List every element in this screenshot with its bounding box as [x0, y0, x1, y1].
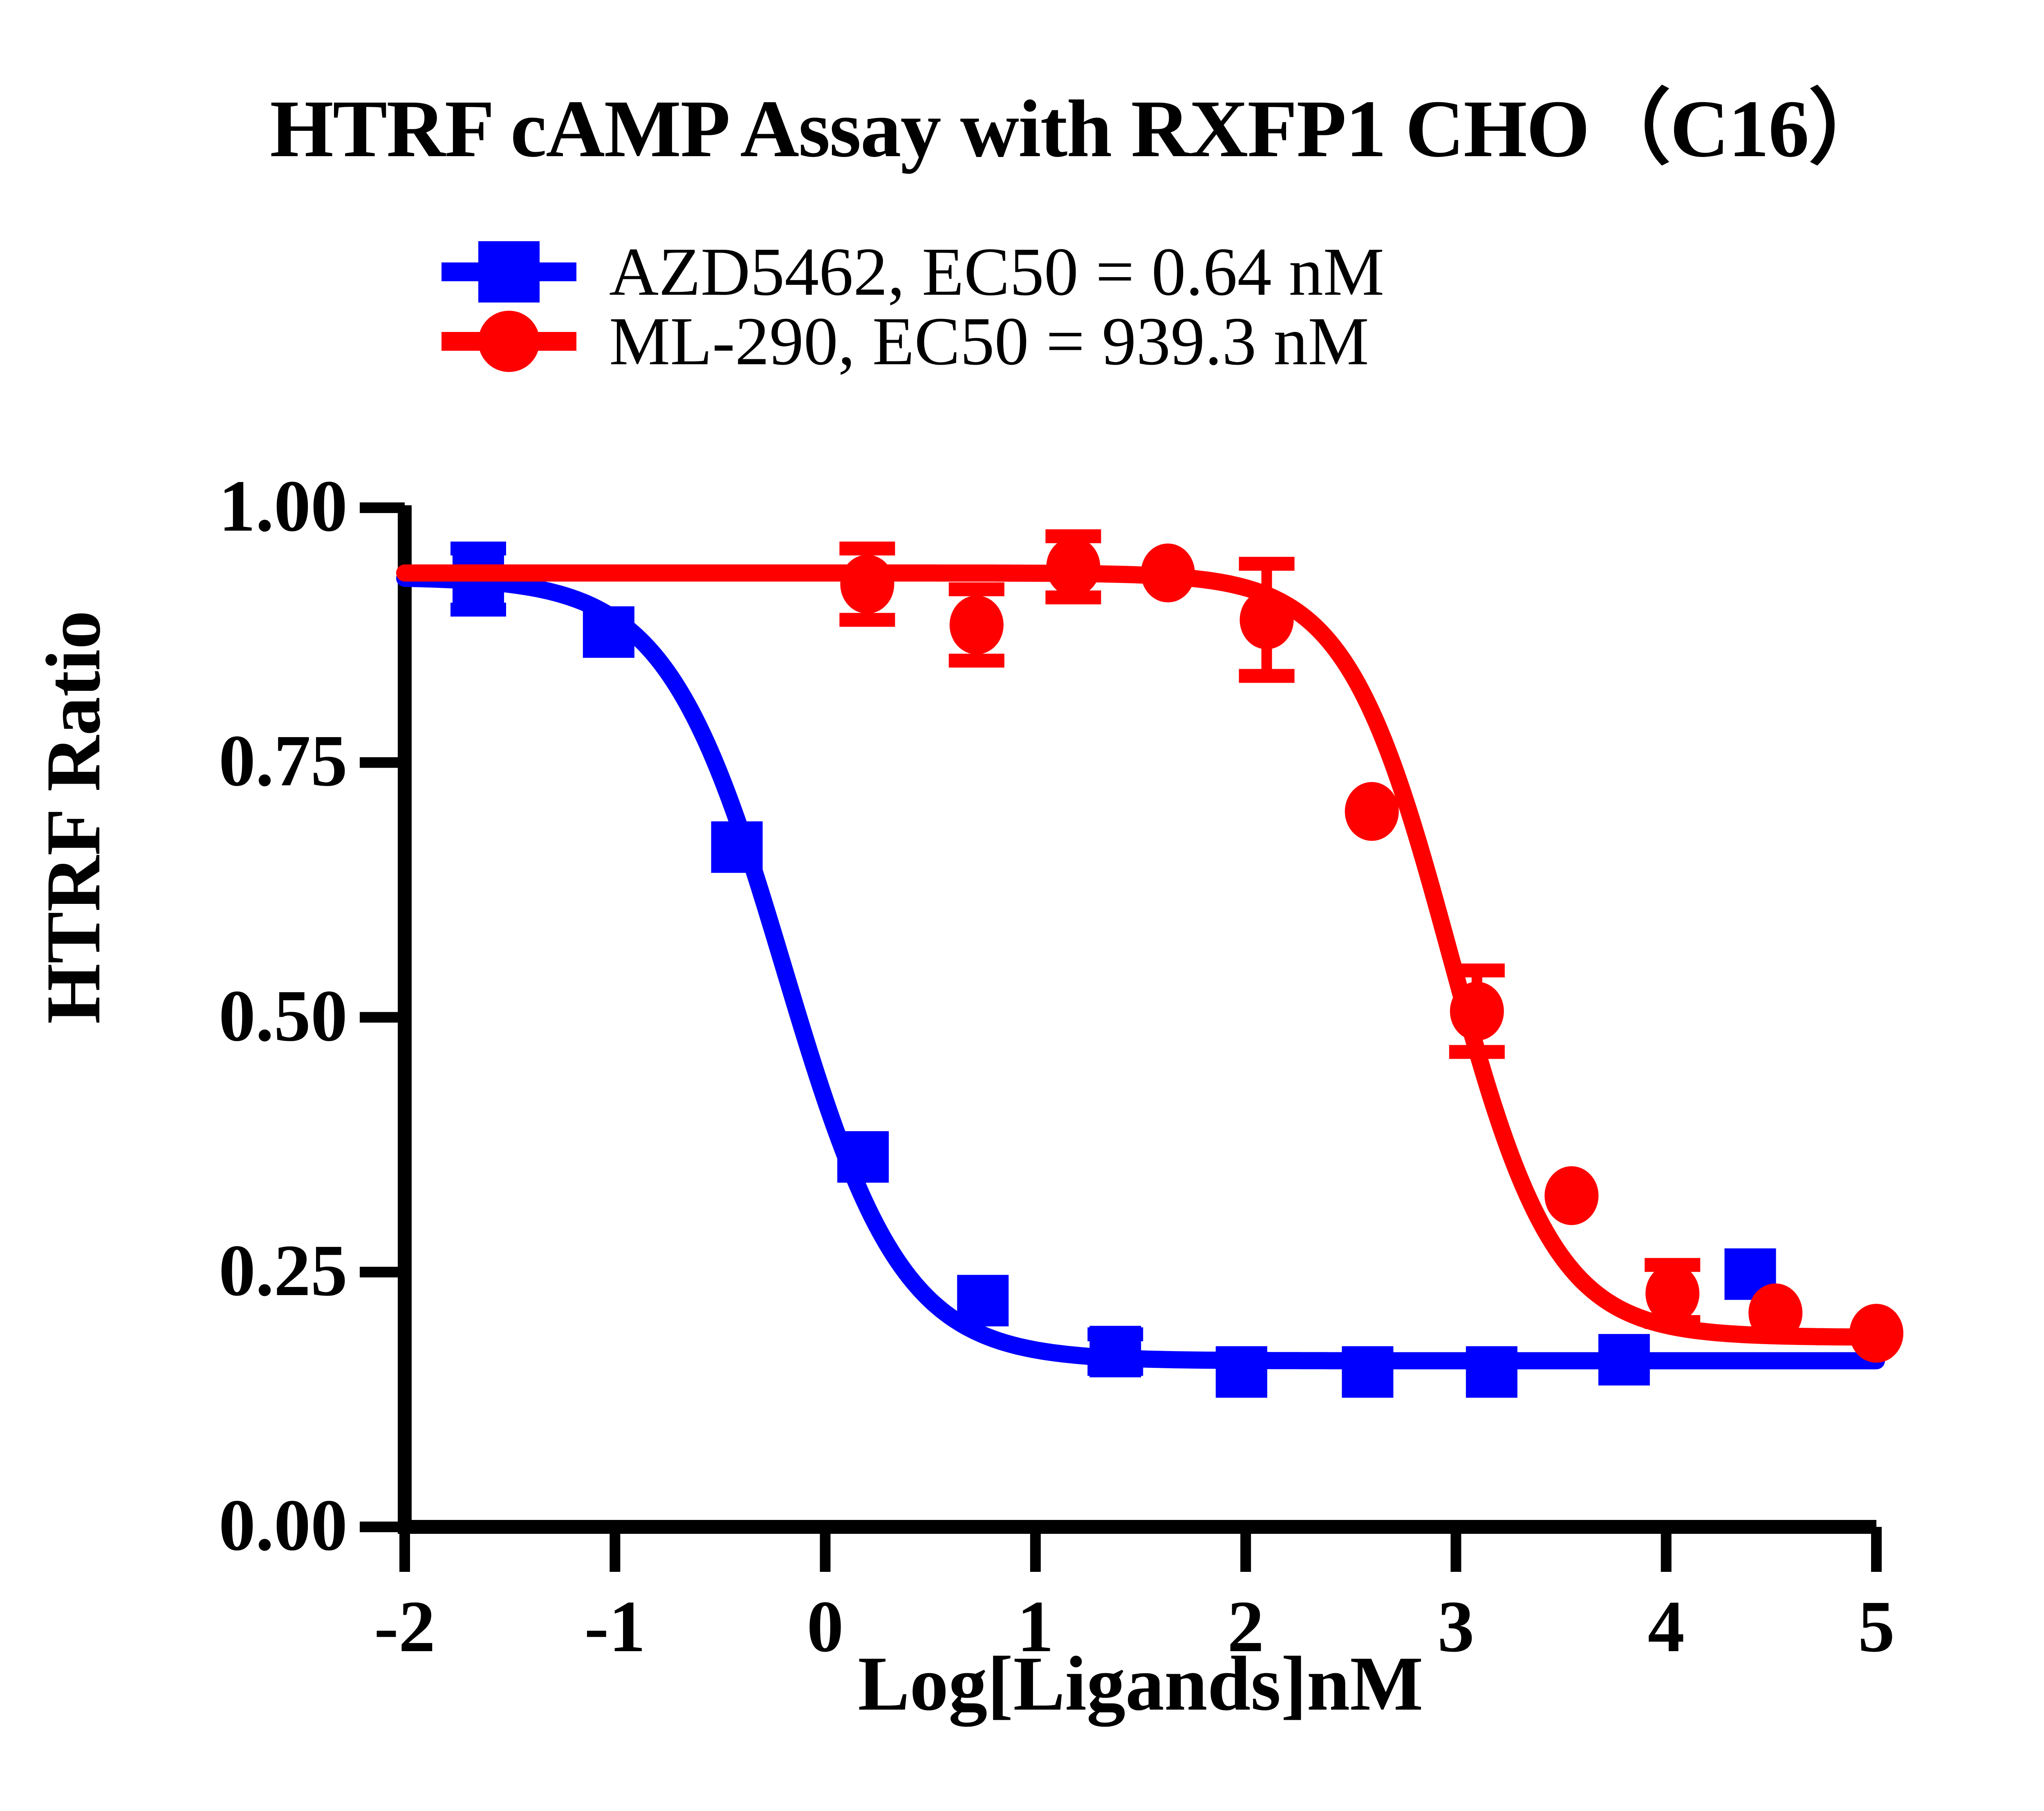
- y-axis-tick-label: 0.25: [176, 1228, 347, 1313]
- data-point-circle[interactable]: [1046, 538, 1100, 596]
- data-point-circle[interactable]: [1345, 782, 1399, 841]
- data-point-square[interactable]: [583, 606, 634, 658]
- data-point-circle[interactable]: [1240, 590, 1294, 649]
- data-point-square[interactable]: [711, 821, 763, 873]
- x-axis-title: Log[Ligands]nM: [405, 1639, 1876, 1728]
- y-axis-tick-label: 0.00: [176, 1483, 347, 1567]
- data-point-square[interactable]: [837, 1131, 889, 1183]
- series-ml290: [405, 536, 1903, 1363]
- y-axis-tick-label: 0.50: [176, 973, 347, 1058]
- data-point-circle[interactable]: [1141, 544, 1195, 603]
- data-point-square[interactable]: [1466, 1346, 1517, 1398]
- data-point-circle[interactable]: [1544, 1166, 1598, 1225]
- data-point-square[interactable]: [1216, 1346, 1267, 1398]
- chart-page: HTRF cAMP Assay with RXFP1 CHO（C16） AZD5…: [0, 0, 2044, 1811]
- data-point-square[interactable]: [1598, 1334, 1650, 1385]
- y-axis-title: HTRF Ratio: [29, 490, 118, 1144]
- data-point-circle[interactable]: [840, 555, 894, 614]
- data-point-square[interactable]: [1089, 1326, 1141, 1377]
- series-curve: [405, 578, 1876, 1361]
- data-point-circle[interactable]: [1849, 1304, 1903, 1363]
- data-point-circle[interactable]: [950, 596, 1004, 654]
- y-axis-tick-label: 1.00: [176, 464, 347, 548]
- data-point-circle[interactable]: [1450, 982, 1504, 1041]
- data-point-square[interactable]: [1342, 1346, 1393, 1398]
- y-axis-tick-label: 0.75: [176, 718, 347, 803]
- plot-area: 1.000.750.500.250.00 -2-1012345 HTRF Rat…: [0, 0, 2044, 1811]
- data-point-square[interactable]: [957, 1275, 1009, 1327]
- data-point-circle[interactable]: [1645, 1264, 1699, 1323]
- data-point-circle[interactable]: [1748, 1283, 1802, 1342]
- series-curve: [405, 573, 1876, 1337]
